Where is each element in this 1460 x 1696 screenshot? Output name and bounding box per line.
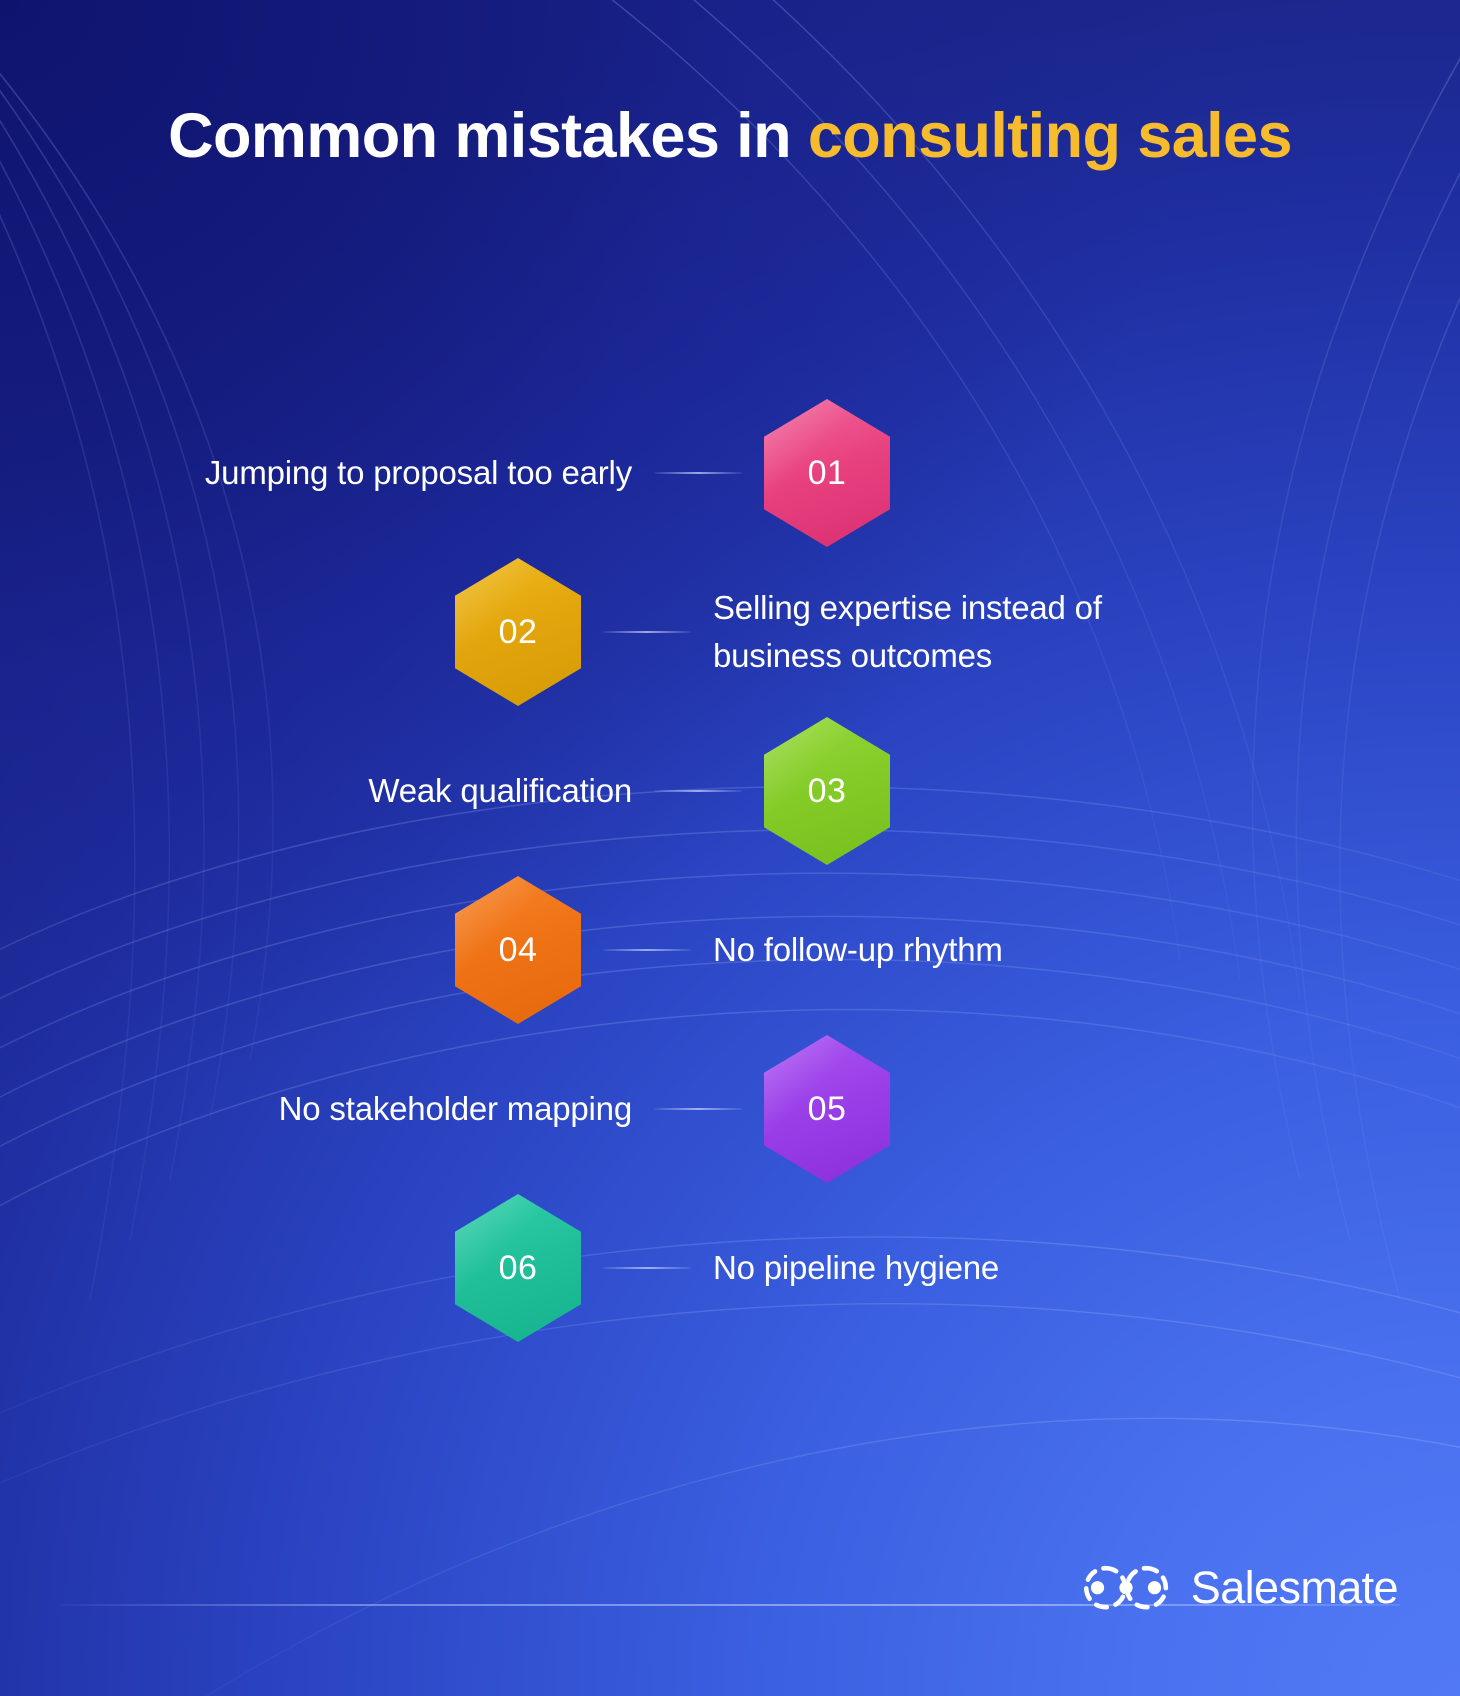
list-item[interactable]: 02 Selling expertise instead of business… — [455, 557, 1455, 707]
salesmate-dots-logo-icon — [1083, 1565, 1169, 1611]
list-item[interactable]: No stakeholder mapping 05 — [60, 1034, 890, 1184]
connector-line — [603, 949, 691, 951]
item-number: 01 — [808, 454, 847, 493]
title-accent-part: consulting — [808, 101, 1120, 171]
item-label: No stakeholder mapping — [279, 1085, 632, 1133]
item-number: 05 — [808, 1090, 847, 1129]
connector-line — [654, 472, 742, 474]
connector-line — [603, 1267, 691, 1269]
hexagon-badge-05[interactable]: 05 — [764, 1035, 890, 1183]
title-accent-part-2: sales — [1137, 101, 1292, 171]
item-number: 02 — [499, 613, 538, 652]
brand-name: Salesmate — [1191, 1562, 1398, 1614]
connector-line — [654, 1108, 742, 1110]
item-label: No pipeline hygiene — [713, 1244, 999, 1292]
infographic-canvas: Common mistakes in consulting sales Jump… — [0, 0, 1460, 1696]
connector-line — [654, 790, 742, 792]
item-label: Weak qualification — [368, 767, 632, 815]
connector-line — [603, 631, 691, 633]
hexagon-badge-03[interactable]: 03 — [764, 717, 890, 865]
list-item[interactable]: Weak qualification 03 — [60, 716, 890, 866]
list-item[interactable]: Jumping to proposal too early 01 — [60, 398, 890, 548]
hexagon-badge-06[interactable]: 06 — [455, 1194, 581, 1342]
hexagon-badge-02[interactable]: 02 — [455, 558, 581, 706]
hexagon-badge-01[interactable]: 01 — [764, 399, 890, 547]
title-plain-part: Common mistakes in — [168, 101, 808, 171]
item-number: 03 — [808, 772, 847, 811]
item-label: Selling expertise instead of business ou… — [713, 584, 1102, 680]
brand-logo[interactable]: Salesmate — [1083, 1562, 1398, 1614]
page-title: Common mistakes in consulting sales — [0, 92, 1460, 181]
hexagon-badge-04[interactable]: 04 — [455, 876, 581, 1024]
item-number: 06 — [499, 1249, 538, 1288]
item-label: No follow-up rhythm — [713, 926, 1003, 974]
item-label: Jumping to proposal too early — [205, 449, 632, 497]
list-item[interactable]: 06 No pipeline hygiene — [455, 1193, 1455, 1343]
list-item[interactable]: 04 No follow-up rhythm — [455, 875, 1455, 1025]
item-number: 04 — [499, 931, 538, 970]
